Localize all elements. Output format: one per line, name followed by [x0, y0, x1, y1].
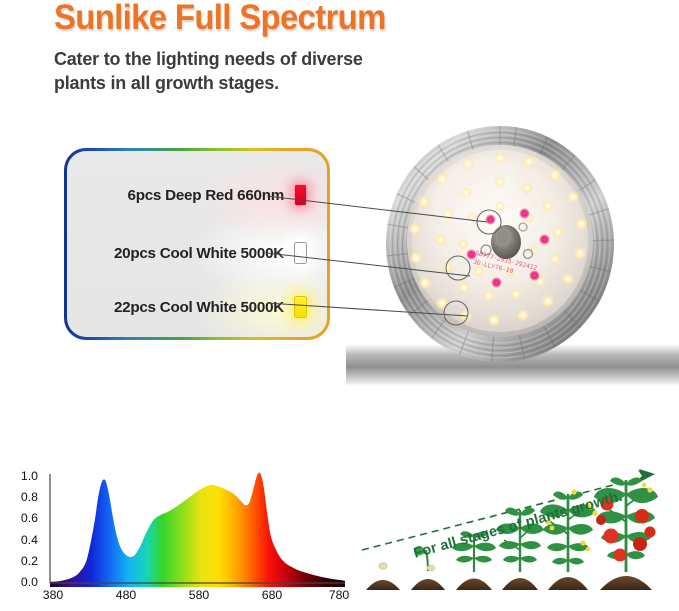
growth-stage-seed: [366, 563, 400, 590]
y-tick-6: 0.0: [6, 575, 38, 589]
legend-body: 6pcs Deep Red 660nm 20pcs Cool White 500…: [67, 151, 327, 337]
legend-row-deep-red: 6pcs Deep Red 660nm: [67, 181, 327, 209]
y-tick-4: 0.4: [6, 533, 38, 547]
x-tick-4: 680: [250, 588, 294, 602]
led-legend-card: 6pcs Deep Red 660nm 20pcs Cool White 500…: [64, 148, 330, 340]
y-tick-1: 1.0: [6, 469, 38, 483]
page-title: Sunlike Full Spectrum: [54, 0, 386, 38]
subtitle-line-2: plants in all growth stages.: [54, 72, 279, 93]
warm-white-led-icon: [294, 296, 307, 318]
plant-growth-stages: For all stages of plants growth.: [352, 458, 679, 606]
legend-label-deep-red: 6pcs Deep Red 660nm: [128, 187, 284, 204]
x-tick-1: 380: [31, 588, 75, 602]
infographic-canvas: Sunlike Full Spectrum Cater to the light…: [0, 0, 679, 606]
legend-gradient-border: 6pcs Deep Red 660nm 20pcs Cool White 500…: [64, 148, 330, 340]
legend-row-cool-white-22: 22pcs Cool White 5000K: [67, 293, 327, 321]
page-subtitle: Cater to the lighting needs of diverse p…: [54, 47, 461, 94]
subtitle-line-1: Cater to the lighting needs of diverse: [54, 48, 363, 69]
cool-white-led-icon: [294, 242, 307, 264]
spectrum-curve-fill: [50, 462, 345, 606]
y-tick-3: 0.6: [6, 511, 38, 525]
x-tick-2: 480: [104, 588, 148, 602]
legend-label-cool-white-20: 20pcs Cool White 5000K: [114, 245, 284, 262]
led-grow-light-bulb: SB777-2835-292412 3D-LLY76-10: [382, 122, 618, 370]
spectrum-chart-svg: [0, 462, 345, 606]
x-tick-3: 580: [177, 588, 221, 602]
y-tick-2: 0.8: [6, 490, 38, 504]
deep-red-led-icon: [294, 184, 307, 206]
legend-label-cool-white-22: 22pcs Cool White 5000K: [114, 299, 284, 316]
y-tick-5: 0.2: [6, 554, 38, 568]
spectrum-chart: 1.0 0.8 0.6 0.4 0.2 0.0 380 480 580 680 …: [0, 462, 345, 606]
legend-row-cool-white-20: 20pcs Cool White 5000K: [67, 239, 327, 267]
